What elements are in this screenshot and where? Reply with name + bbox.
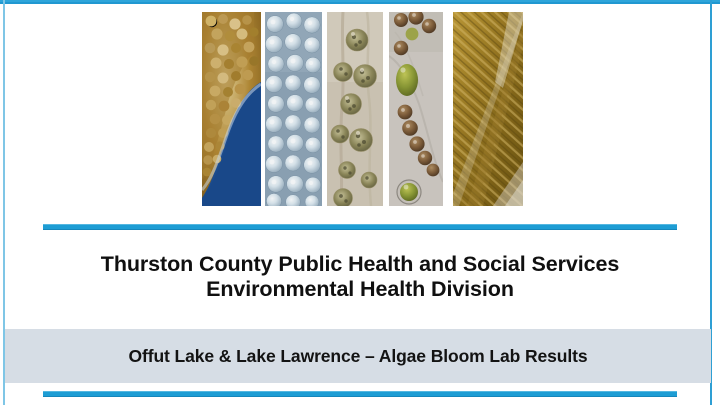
micrograph-strip-5 <box>453 12 523 206</box>
algae-micrograph-strip <box>202 12 527 206</box>
subtitle-band: Offut Lake & Lake Lawrence – Algae Bloom… <box>5 329 711 383</box>
micrograph-strip-1 <box>202 12 261 206</box>
micrograph-strip-3 <box>327 12 383 206</box>
micrograph-strip-4 <box>389 12 443 206</box>
page-title: Thurston County Public Health and Social… <box>20 252 700 302</box>
title-slide: Thurston County Public Health and Social… <box>0 0 720 405</box>
title-line-2: Environmental Health Division <box>20 277 700 302</box>
micrograph-strip-2 <box>265 12 322 206</box>
title-line-1: Thurston County Public Health and Social… <box>20 252 700 277</box>
subtitle-text: Offut Lake & Lake Lawrence – Algae Bloom… <box>129 346 588 367</box>
top-accent-rule <box>0 0 720 4</box>
lower-accent-rule <box>43 391 677 397</box>
upper-accent-rule <box>43 224 677 230</box>
